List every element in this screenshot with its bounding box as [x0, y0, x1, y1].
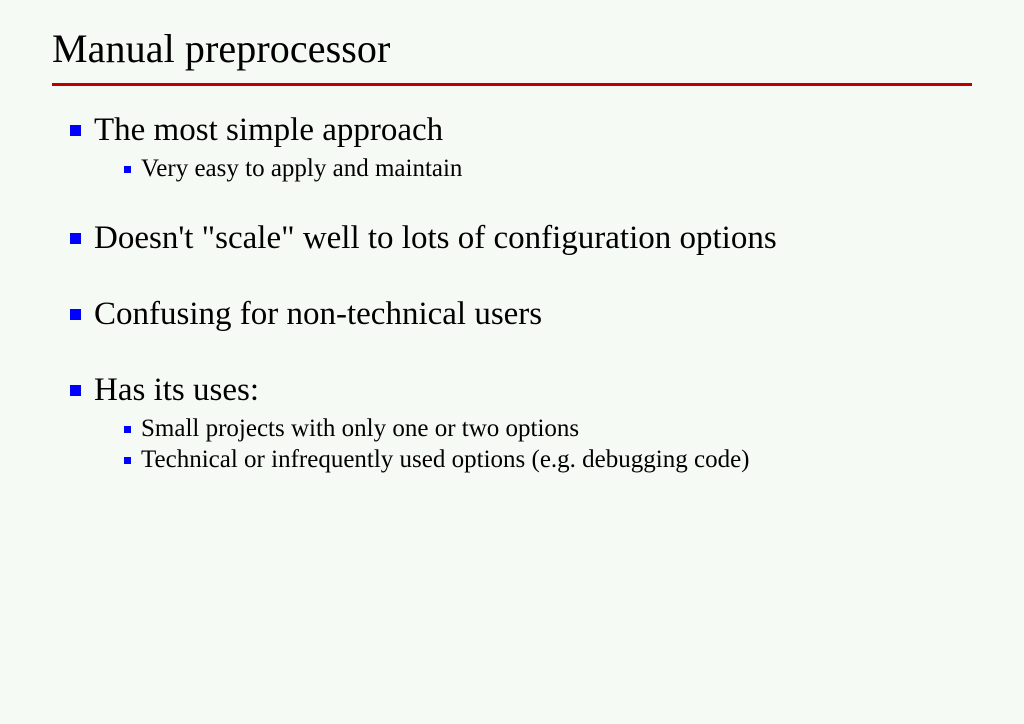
bullet-item-label: The most simple approach	[94, 108, 1024, 152]
bullet-group: Has its uses: Small projects with only o…	[0, 368, 1024, 475]
small-square-bullet-icon	[124, 166, 131, 173]
bullet-item-level2: Small projects with only one or two opti…	[0, 413, 1024, 444]
title-divider	[52, 83, 972, 86]
small-square-bullet-icon	[124, 457, 131, 464]
square-bullet-icon	[70, 385, 81, 396]
bullet-item-level2: Technical or infrequently used options (…	[0, 444, 1024, 475]
slide: Manual preprocessor The most simple appr…	[0, 0, 1024, 724]
small-square-bullet-icon	[124, 426, 131, 433]
bullet-item-label: Very easy to apply and maintain	[141, 153, 881, 184]
bullet-item-level1: Confusing for non-technical users	[0, 292, 1024, 336]
bullet-item-label: Technical or infrequently used options (…	[141, 444, 881, 475]
bullet-item-label: Doesn't "scale" well to lots of configur…	[94, 216, 1024, 260]
square-bullet-icon	[70, 309, 81, 320]
bullet-group: The most simple approach Very easy to ap…	[0, 108, 1024, 184]
bullet-item-level1: Has its uses:	[0, 368, 1024, 412]
bullet-item-label: Has its uses:	[94, 368, 1024, 412]
bullet-item-level1: The most simple approach	[0, 108, 1024, 152]
bullet-group: Doesn't "scale" well to lots of configur…	[0, 216, 1024, 260]
bullet-item-label: Confusing for non-technical users	[94, 292, 1024, 336]
bullet-item-label: Small projects with only one or two opti…	[141, 413, 881, 444]
square-bullet-icon	[70, 233, 81, 244]
page-title: Manual preprocessor	[52, 26, 972, 72]
bullet-item-level1: Doesn't "scale" well to lots of configur…	[0, 216, 1024, 260]
title-block: Manual preprocessor	[52, 26, 972, 72]
bullet-item-level2: Very easy to apply and maintain	[0, 153, 1024, 184]
square-bullet-icon	[70, 125, 81, 136]
bullet-list: The most simple approach Very easy to ap…	[0, 108, 1024, 475]
bullet-group: Confusing for non-technical users	[0, 292, 1024, 336]
